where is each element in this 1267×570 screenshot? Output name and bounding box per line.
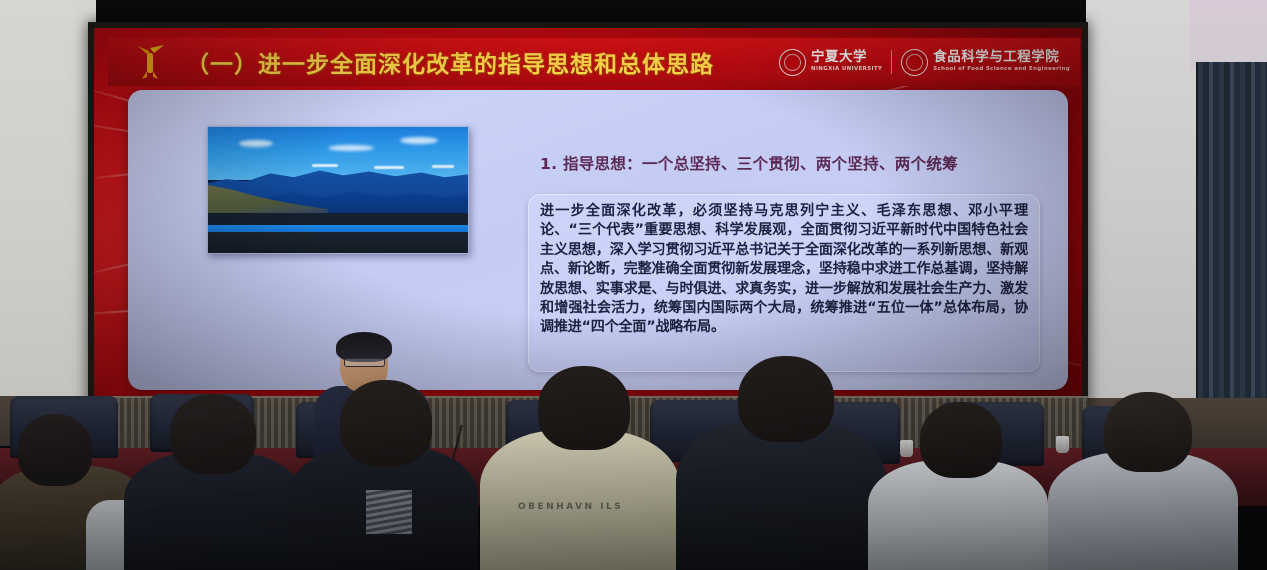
audience-member	[124, 410, 304, 570]
lecture-hall-photo: （一）进一步全面深化改革的指导思想和总体思路 宁夏大学 NINGXIA UNIV…	[0, 0, 1267, 570]
audience-member	[676, 376, 886, 570]
audience-member	[288, 398, 478, 570]
right-wall-light-tint	[1190, 0, 1267, 70]
left-wall	[0, 0, 96, 404]
led-red-background: （一）进一步全面深化改革的指导思想和总体思路 宁夏大学 NINGXIA UNIV…	[94, 28, 1082, 406]
led-display-frame: （一）进一步全面深化改革的指导思想和总体思路 宁夏大学 NINGXIA UNIV…	[88, 22, 1088, 412]
audience-member	[1048, 410, 1238, 570]
audience-member	[868, 420, 1048, 570]
screen-vignette	[94, 28, 1082, 406]
presenter-glasses	[344, 358, 385, 367]
audience-member: OBENHAVN ILS	[480, 384, 680, 570]
audience-jacket-text: OBENHAVN ILS	[518, 502, 658, 512]
